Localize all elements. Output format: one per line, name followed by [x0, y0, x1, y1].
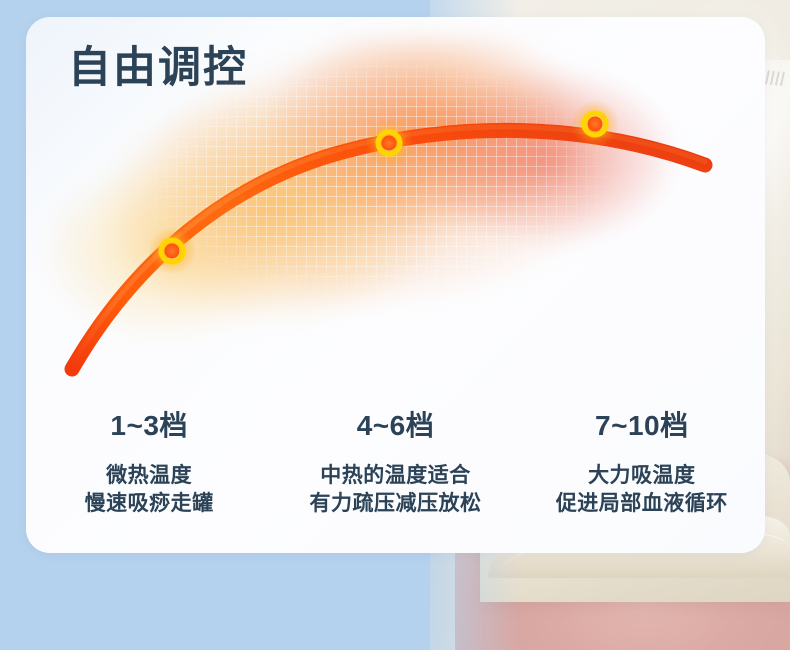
level-2-heading: 4~6档 — [272, 412, 518, 440]
level-3-line-2: 促进局部血液循环 — [519, 490, 765, 518]
marker-high[interactable] — [571, 100, 619, 148]
level-1-heading: 1~3档 — [26, 412, 272, 440]
level-descriptions: 1~3档 微热温度 慢速吸痧走罐 4~6档 中热的温度适合 有力疏压减压放松 7… — [26, 412, 765, 517]
level-1-line-1: 微热温度 — [26, 462, 272, 490]
level-column-2: 4~6档 中热的温度适合 有力疏压减压放松 — [272, 412, 518, 517]
level-3-line-1: 大力吸温度 — [519, 462, 765, 490]
marker-mid[interactable] — [365, 119, 413, 167]
content-card: 自由调控 — [26, 17, 765, 553]
marker-low[interactable] — [148, 227, 196, 275]
temperature-curve-chart — [26, 17, 765, 417]
level-2-line-1: 中热的温度适合 — [272, 462, 518, 490]
level-column-1: 1~3档 微热温度 慢速吸痧走罐 — [26, 412, 272, 517]
heat-visualization — [26, 17, 765, 417]
level-column-3: 7~10档 大力吸温度 促进局部血液循环 — [519, 412, 765, 517]
level-1-line-2: 慢速吸痧走罐 — [26, 490, 272, 518]
promo-banner: 自由调控 — [0, 0, 790, 650]
level-3-heading: 7~10档 — [519, 412, 765, 440]
level-2-line-2: 有力疏压减压放松 — [272, 490, 518, 518]
